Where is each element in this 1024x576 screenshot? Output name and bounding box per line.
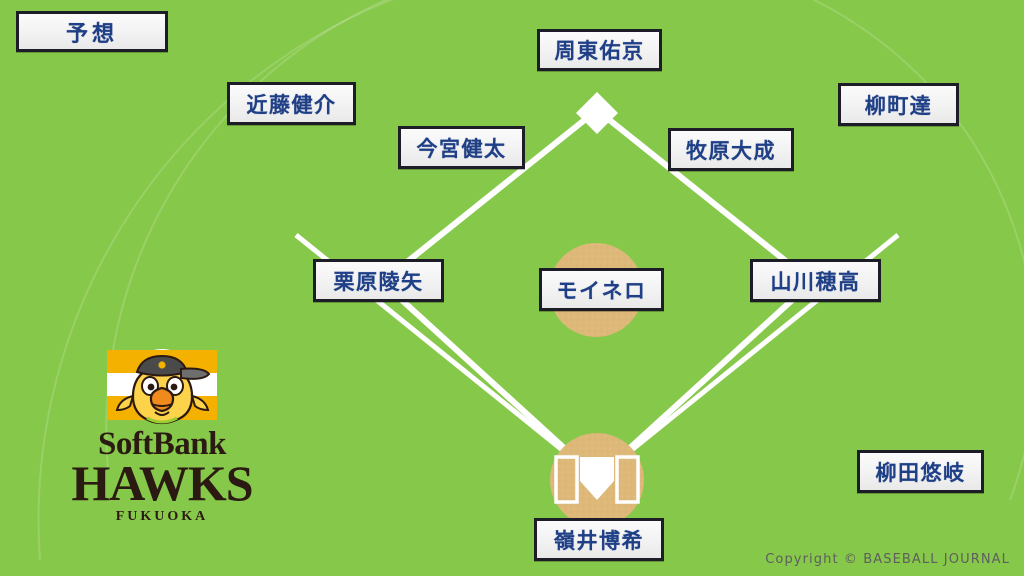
logo-fukuoka-text: FUKUOKA — [116, 509, 209, 524]
player-label-left-infield[interactable]: 栗原陵矢 — [313, 259, 444, 302]
player-name: 山川穂高 — [771, 266, 861, 296]
player-label-center-fielder[interactable]: 柳町達 — [838, 83, 959, 126]
player-name: 柳田悠岐 — [876, 457, 966, 487]
second-base — [576, 92, 618, 134]
player-label-shortstop[interactable]: 今宮健太 — [398, 126, 525, 169]
player-name: 今宮健太 — [417, 133, 507, 163]
player-name: 近藤健介 — [247, 89, 337, 119]
player-label-first-baseman[interactable]: 山川穂高 — [750, 259, 881, 302]
player-name: 柳町達 — [865, 90, 933, 120]
player-label-pitcher[interactable]: モイネロ — [539, 268, 664, 311]
player-name: 栗原陵矢 — [334, 266, 424, 296]
team-logo: SoftBank HAWKS FUKUOKA — [63, 338, 261, 530]
page-title-badge: 予想 — [16, 11, 168, 52]
player-name: モイネロ — [557, 275, 647, 305]
player-name: 嶺井博希 — [554, 525, 644, 555]
player-name: 周東佑京 — [555, 35, 645, 65]
player-label-second-baseman[interactable]: 周東佑京 — [537, 29, 662, 71]
player-label-third-baseman[interactable]: 牧原大成 — [668, 128, 794, 171]
page-title: 予想 — [66, 16, 118, 48]
lineup-graphic: 予想 周東佑京 近藤健介 柳町達 今宮健太 牧原大成 栗原陵矢 モイネロ 山川穂… — [0, 0, 1024, 576]
player-name: 牧原大成 — [686, 135, 776, 165]
copyright-notice: Copyright © BASEBALL JOURNAL — [765, 552, 1010, 567]
player-label-right-fielder[interactable]: 柳田悠岐 — [857, 450, 984, 493]
logo-hawks-text: HAWKS — [71, 455, 252, 511]
player-label-left-fielder[interactable]: 近藤健介 — [227, 82, 356, 125]
player-label-catcher[interactable]: 嶺井博希 — [534, 518, 664, 561]
